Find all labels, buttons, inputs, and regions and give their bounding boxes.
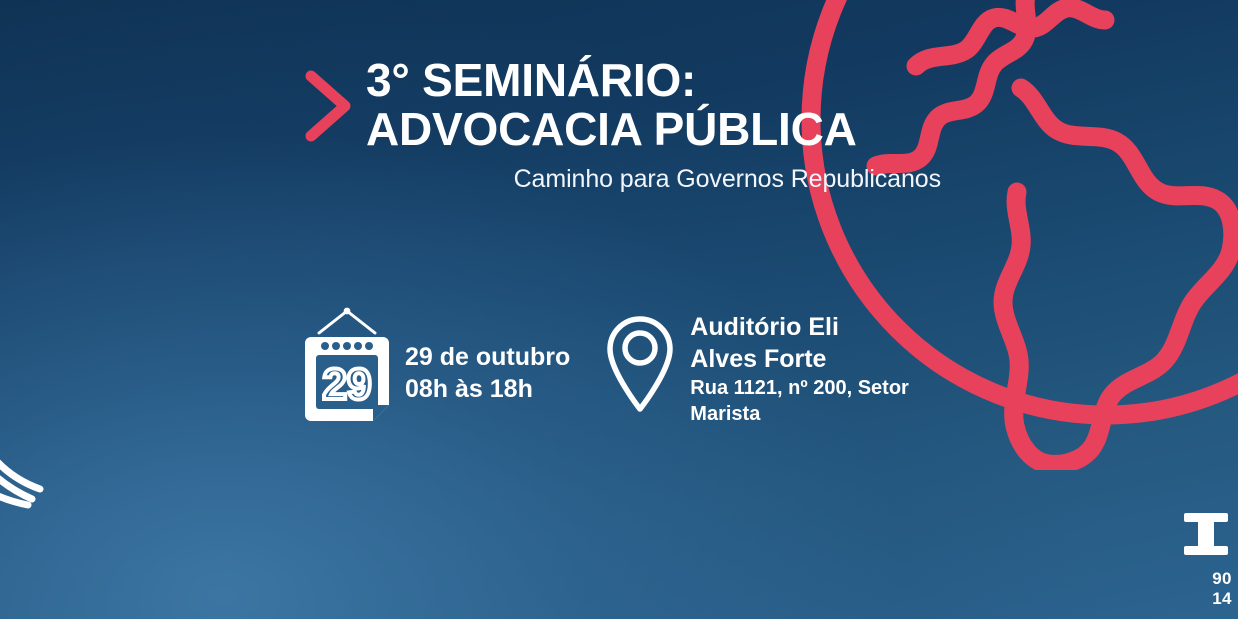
map-pin-icon <box>604 309 676 415</box>
event-time: 08h às 18h <box>405 373 570 405</box>
venue-address-line-2: Marista <box>690 401 909 427</box>
event-subtitle: Caminho para Governos Republicanos <box>366 165 943 194</box>
venue-text-block: Auditório Eli Alves Forte Rua 1121, nº 2… <box>690 305 909 427</box>
institutional-logo-icon: 90 14 <box>1180 505 1238 609</box>
corner-logo-line-2: 14 <box>1206 589 1238 609</box>
laurel-wreath-icon <box>0 411 104 561</box>
date-info-item: 29 29 de outubro 08h às 18h <box>303 305 570 425</box>
headline-block: 3° SEMINÁRIO: ADVOCACIA PÚBLICA Caminho … <box>303 56 943 194</box>
venue-name-line-2: Alves Forte <box>690 343 909 375</box>
corner-logo-line-1: 90 <box>1206 569 1238 589</box>
logo-glyph-icon <box>1180 505 1238 563</box>
calendar-day-number: 29 <box>323 360 372 409</box>
event-info-row: 29 29 de outubro 08h às 18h Auditório El… <box>303 305 909 427</box>
venue-name-line-1: Auditório Eli <box>690 311 909 343</box>
venue-info-item: Auditório Eli Alves Forte Rua 1121, nº 2… <box>604 305 909 427</box>
chevron-right-icon <box>303 68 355 144</box>
venue-address-line-1: Rua 1121, nº 200, Setor <box>690 375 909 401</box>
date-text-block: 29 de outubro 08h às 18h <box>405 305 570 405</box>
event-banner: 3° SEMINÁRIO: ADVOCACIA PÚBLICA Caminho … <box>0 0 1238 619</box>
calendar-icon: 29 <box>303 307 391 425</box>
event-title-line-2: ADVOCACIA PÚBLICA <box>366 105 943 154</box>
event-title-line-1: 3° SEMINÁRIO: <box>366 56 943 105</box>
event-date: 29 de outubro <box>405 341 570 373</box>
